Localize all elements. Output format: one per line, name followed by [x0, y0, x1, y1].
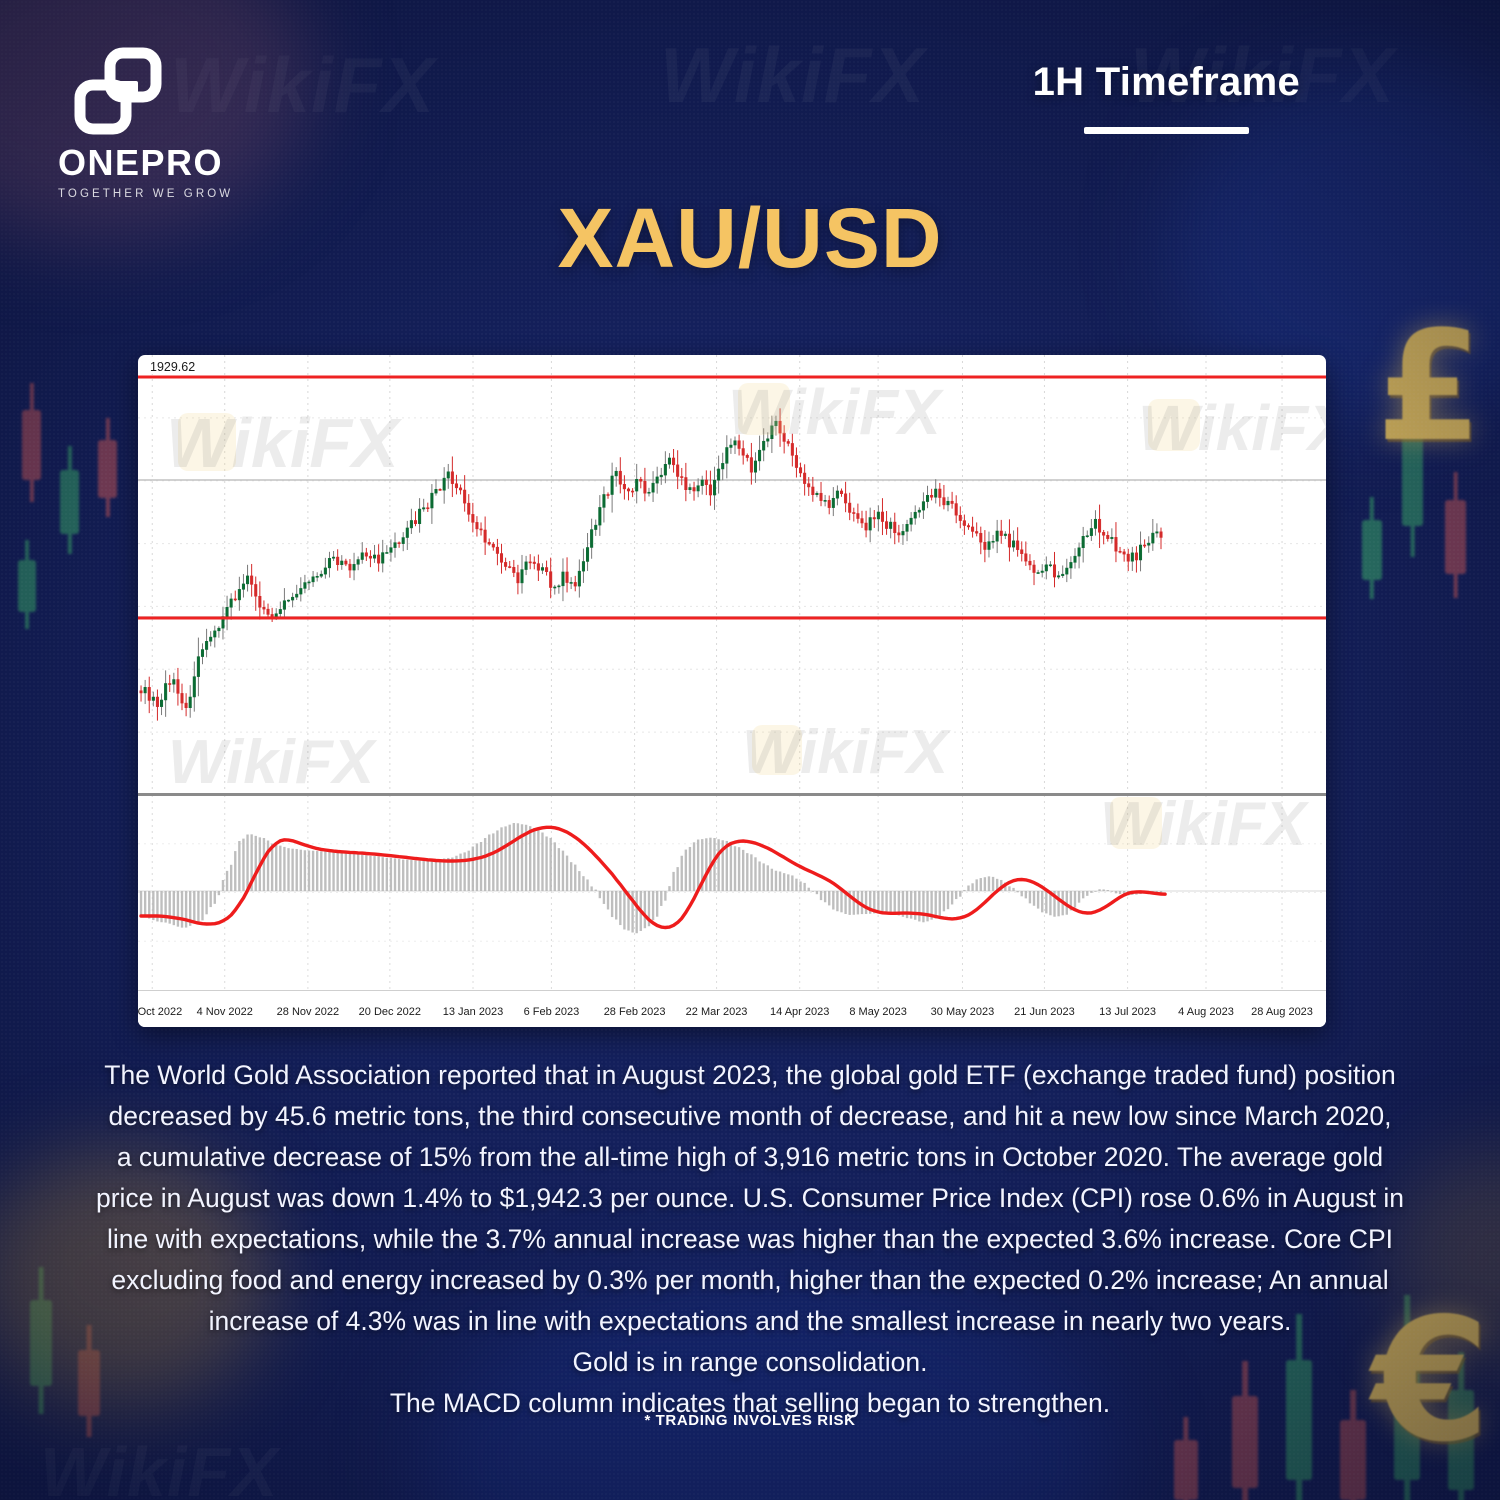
commentary-line: excluding food and energy increased by 0… — [70, 1260, 1430, 1301]
commentary-text: The World Gold Association reported that… — [70, 1055, 1430, 1424]
price-chart-panel[interactable]: WikiFX WikiFX WikiFX WikiFX WikiFX 1929.… — [138, 355, 1326, 795]
timeframe-block: 1H Timeframe — [1033, 60, 1300, 134]
date-axis-tick: 28 Aug 2023 — [1251, 1006, 1313, 1018]
chart-watermark: WikiFX — [742, 717, 948, 788]
timeframe-label: 1H Timeframe — [1033, 60, 1300, 105]
commentary-line: line with expectations, while the 3.7% a… — [70, 1219, 1430, 1260]
date-axis-tick: 13 Oct 2022 — [138, 1006, 182, 1018]
brand-logo: ONEPRO TOGETHER WE GROW — [58, 45, 258, 200]
price-level-label: 1929.62 — [147, 360, 198, 374]
macd-panel[interactable]: WikiFX — [138, 795, 1326, 990]
date-axis: 13 Oct 20224 Nov 202228 Nov 202220 Dec 2… — [138, 990, 1326, 1027]
risk-disclaimer: * TRADING INVOLVES RISK — [0, 1412, 1500, 1429]
date-axis-tick: 13 Jul 2023 — [1099, 1006, 1156, 1018]
page-title: XAU/USD — [0, 196, 1500, 280]
date-axis-tick: 13 Jan 2023 — [443, 1006, 504, 1018]
date-axis-tick: 28 Nov 2022 — [277, 1006, 339, 1018]
date-axis-tick: 4 Nov 2022 — [197, 1006, 253, 1018]
interlocking-squares-icon — [66, 45, 178, 137]
commentary-line: decreased by 45.6 metric tons, the third… — [70, 1096, 1430, 1137]
date-axis-tick: 20 Dec 2022 — [359, 1006, 421, 1018]
chart-watermark: WikiFX — [1100, 789, 1306, 860]
commentary-line: increase of 4.3% was in line with expect… — [70, 1301, 1430, 1342]
chart-watermark: WikiFX — [1138, 391, 1326, 465]
chart-card[interactable]: WikiFX WikiFX WikiFX WikiFX WikiFX 1929.… — [138, 355, 1326, 1027]
chart-watermark: WikiFX — [168, 727, 374, 798]
commentary-line: Gold is in range consolidation. — [70, 1342, 1430, 1383]
date-axis-tick: 30 May 2023 — [931, 1006, 995, 1018]
date-axis-tick: 22 Mar 2023 — [686, 1006, 748, 1018]
commentary-line: The World Gold Association reported that… — [70, 1055, 1430, 1096]
date-axis-tick: 8 May 2023 — [849, 1006, 906, 1018]
chart-watermark: WikiFX — [166, 403, 399, 483]
timeframe-underline — [1084, 127, 1249, 134]
date-axis-tick: 14 Apr 2023 — [770, 1006, 829, 1018]
date-axis-tick: 6 Feb 2023 — [524, 1006, 580, 1018]
date-axis-tick: 21 Jun 2023 — [1014, 1006, 1075, 1018]
chart-watermark: WikiFX — [728, 375, 941, 449]
date-axis-tick: 28 Feb 2023 — [604, 1006, 666, 1018]
commentary-line: a cumulative decrease of 15% from the al… — [70, 1137, 1430, 1178]
commentary-line: price in August was down 1.4% to $1,942.… — [70, 1178, 1430, 1219]
date-axis-tick: 4 Aug 2023 — [1178, 1006, 1234, 1018]
brand-name: ONEPRO — [58, 145, 258, 181]
